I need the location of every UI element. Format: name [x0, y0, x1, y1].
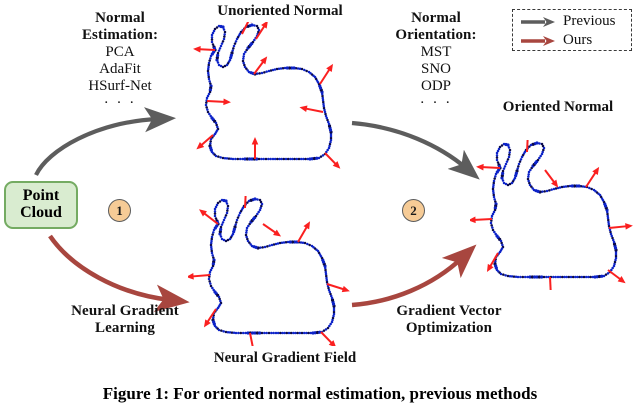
arrow-right-icon — [519, 15, 557, 29]
figure-canvas: Normal Estimation: PCA AdaFit HSurf-Net … — [0, 0, 640, 400]
step-badge-1: 1 — [108, 199, 131, 222]
arrow-neural-gradient-learning — [50, 236, 170, 300]
arrow-gradient-vector-optimization — [352, 258, 462, 305]
legend-item-previous: Previous — [519, 12, 627, 31]
bunny-oriented-normal — [470, 140, 640, 290]
normal-estimation-title-line1: Normal — [52, 10, 188, 27]
normal-estimation-method-hsurfnet: HSurf-Net — [52, 78, 188, 95]
point-cloud-label-line2: Cloud — [20, 205, 62, 222]
arrow-right-icon — [519, 34, 557, 48]
neural-gradient-learning-line2: Learning — [50, 320, 200, 337]
gradient-vector-optimization-line2: Optimization — [374, 320, 524, 337]
point-cloud-label-line1: Point — [23, 188, 59, 205]
panel-title-unoriented-normal: Unoriented Normal — [190, 3, 370, 20]
label-neural-gradient-learning: Neural Gradient Learning — [50, 303, 200, 337]
normal-estimation-ellipsis: · · · — [52, 95, 188, 112]
label-gradient-vector-optimization: Gradient Vector Optimization — [374, 303, 524, 337]
normal-estimation-block: Normal Estimation: PCA AdaFit HSurf-Net … — [52, 10, 188, 113]
normal-estimation-title-line2: Estimation: — [52, 27, 188, 44]
normal-orientation-method-odp: ODP — [368, 78, 504, 95]
arrow-normal-estimation — [36, 119, 158, 175]
normal-orientation-method-mst: MST — [368, 44, 504, 61]
panel-title-oriented-normal: Oriented Normal — [478, 99, 638, 116]
legend-item-ours: Ours — [519, 31, 627, 50]
step-badge-2: 2 — [402, 199, 425, 222]
arrow-normal-orientation — [352, 123, 466, 168]
normal-orientation-block: Normal Orientation: MST SNO ODP · · · — [368, 10, 504, 113]
legend-label-ours: Ours — [563, 32, 592, 49]
gradient-vector-optimization-line1: Gradient Vector — [374, 303, 524, 320]
normal-estimation-method-adafit: AdaFit — [52, 61, 188, 78]
neural-gradient-learning-line1: Neural Gradient — [50, 303, 200, 320]
bunny-neural-gradient-field — [188, 196, 363, 346]
normal-orientation-method-sno: SNO — [368, 61, 504, 78]
normal-orientation-title-line2: Orientation: — [368, 27, 504, 44]
normal-orientation-title-line1: Normal — [368, 10, 504, 27]
normal-estimation-method-pca: PCA — [52, 44, 188, 61]
legend-box: Previous Ours — [512, 9, 632, 51]
point-cloud-box[interactable]: Point Cloud — [4, 181, 78, 229]
bunny-unoriented-normal — [185, 22, 360, 172]
panel-title-neural-gradient-field: Neural Gradient Field — [185, 350, 385, 367]
figure-caption: Figure 1: For oriented normal estimation… — [0, 384, 640, 404]
legend-label-previous: Previous — [563, 13, 616, 30]
